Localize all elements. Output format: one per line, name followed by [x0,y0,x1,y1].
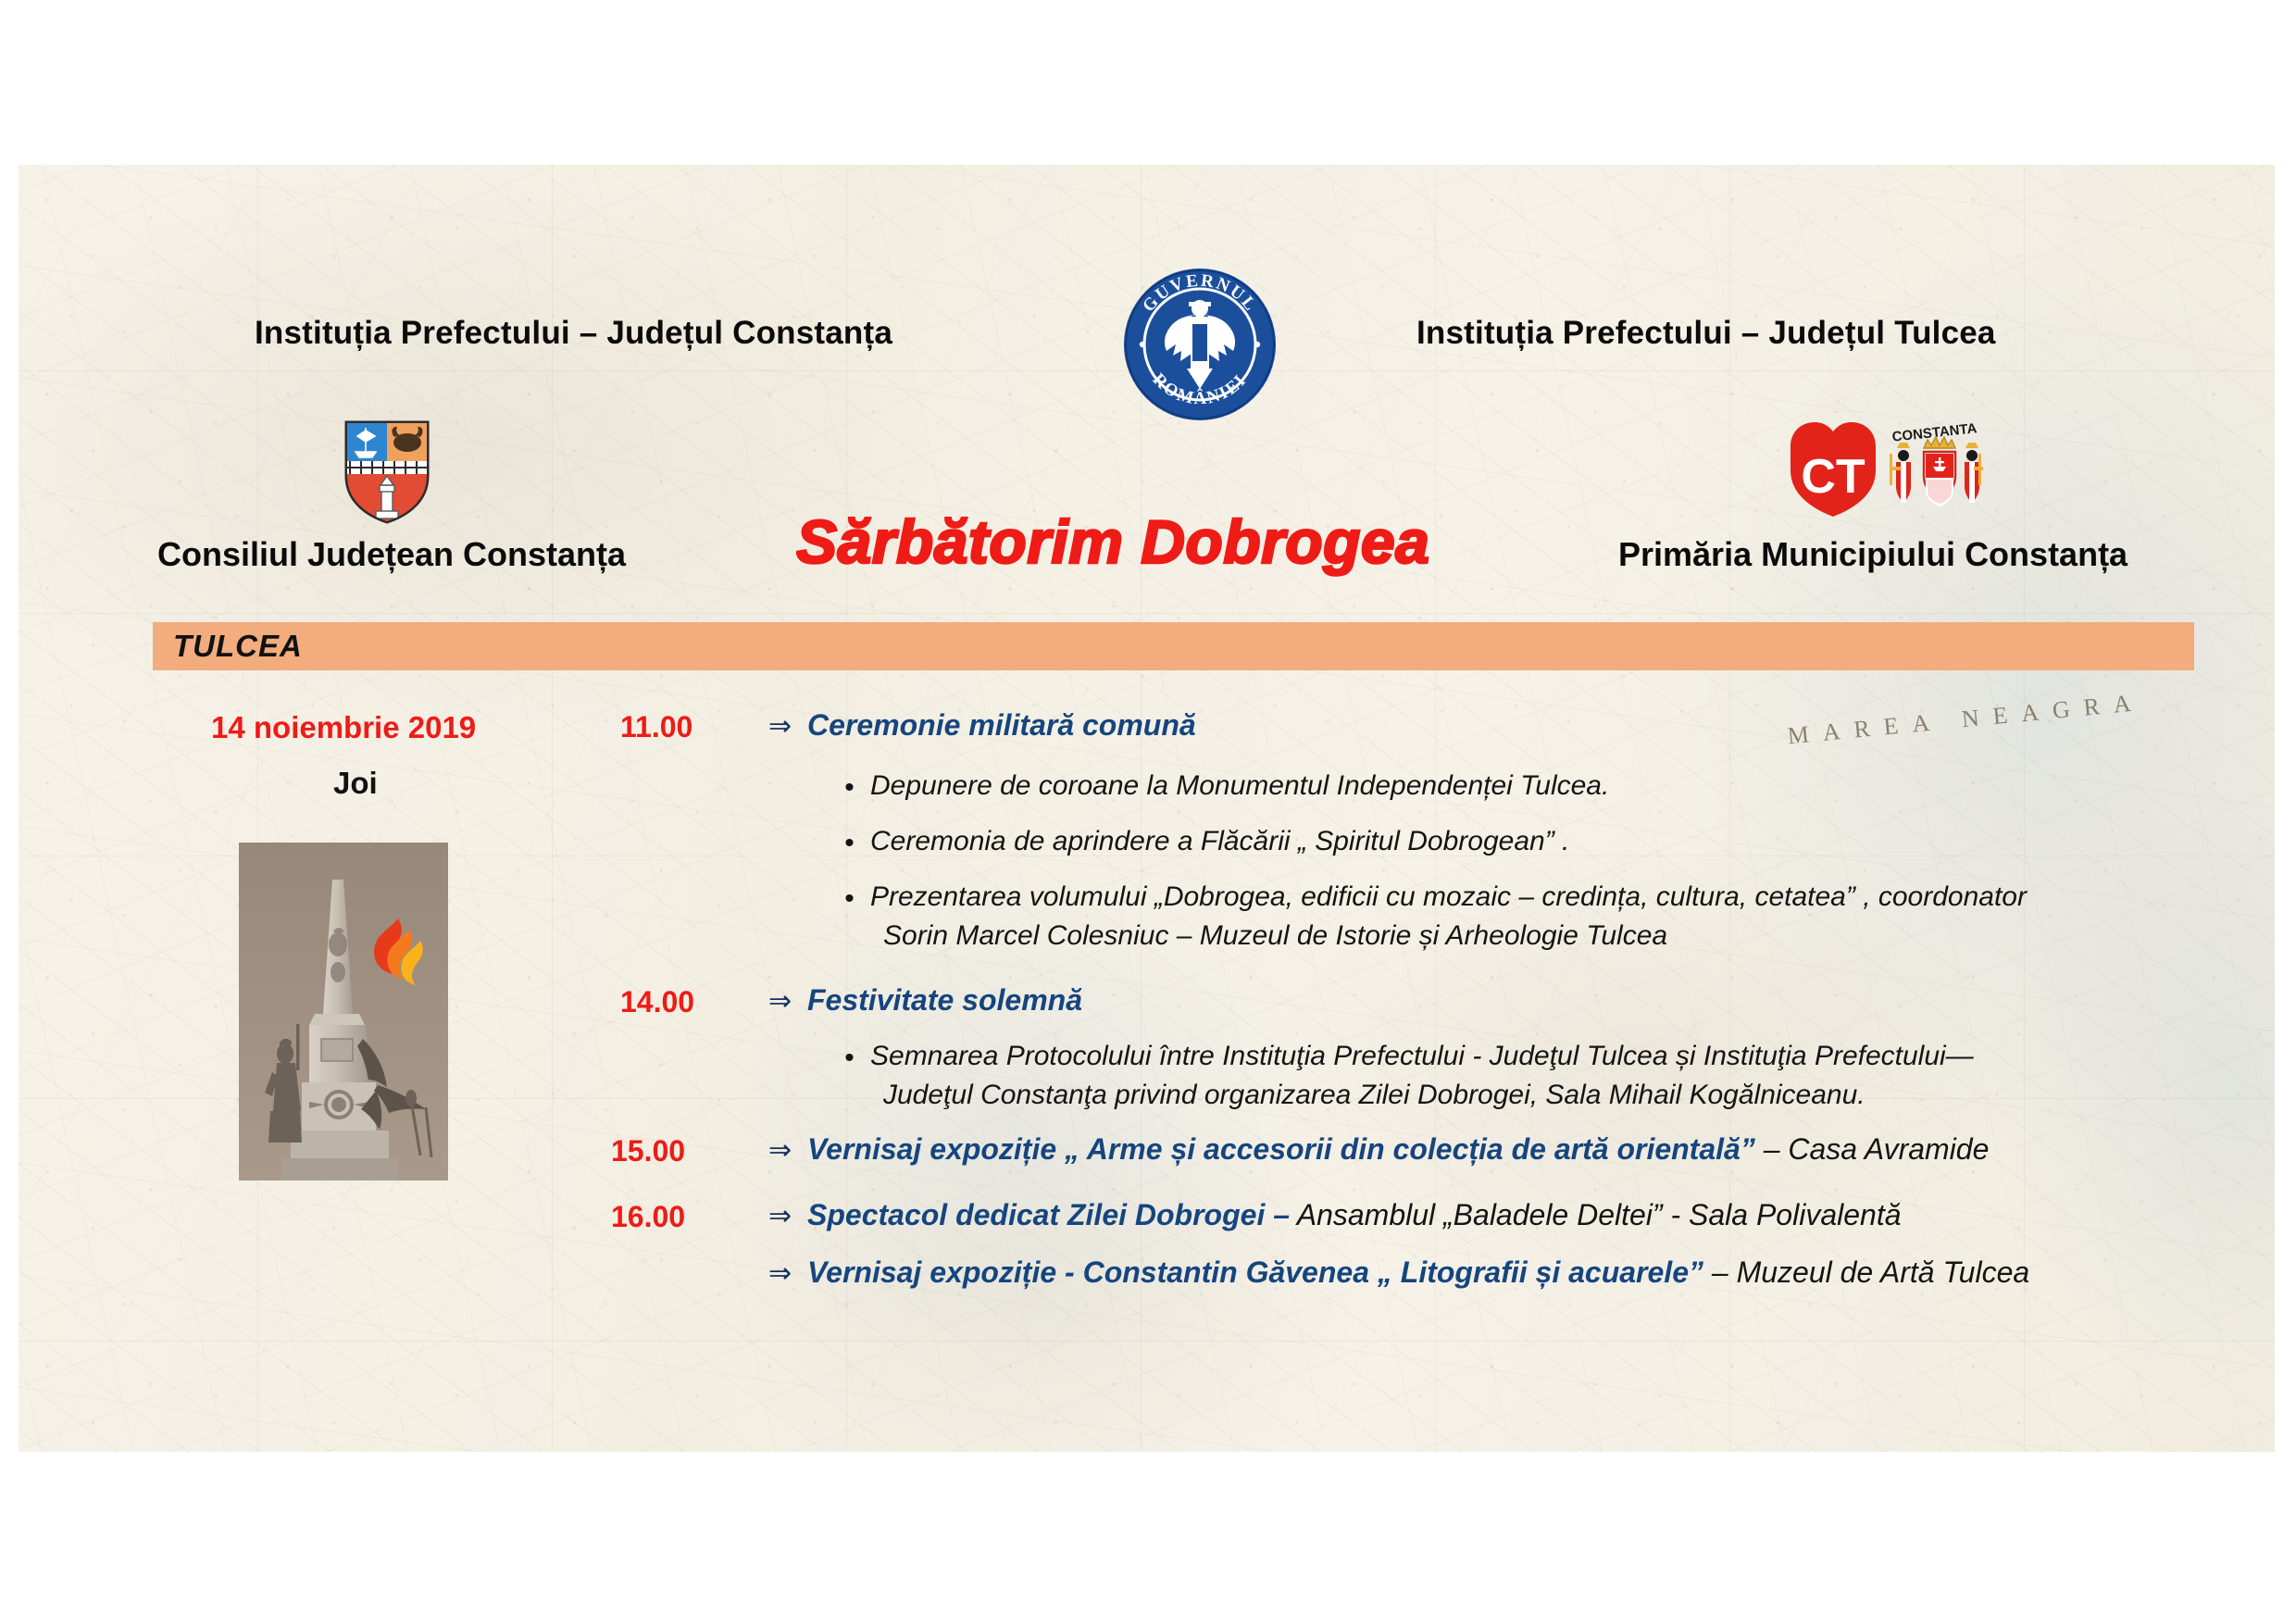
city-hall-label: Primăria Municipiului Constanța [1618,535,2128,574]
schedule-day: Joi [333,766,378,801]
schedule-bullet-line1: Prezentarea volumului „Dobrogea, edifici… [870,881,2027,912]
schedule-heading-text: Vernisaj expoziție - Constantin Găvenea … [807,1255,1703,1289]
schedule-heading-text: Ceremonie militară comună [807,708,1196,742]
svg-text:CT: CT [1801,450,1865,504]
county-council-label: Consiliul Județean Constanța [157,535,626,574]
schedule-heading: Ceremonie militară comună [807,708,1196,743]
bullet-dot-icon: • [844,828,855,859]
schedule-heading: Vernisaj expoziție - Constantin Găvenea … [807,1255,2029,1290]
schedule-heading-text: Festivitate solemnă [807,983,1082,1017]
schedule-bullet-line1: Semnarea Protocolului între Instituţia P… [870,1041,1974,1071]
independence-monument-photo [239,843,448,1181]
page-title: Sărbătorim Dobrogea [796,507,1555,586]
city-section-band: TULCEA [153,622,2194,670]
poster-canvas: MAREA NEAGRA Instituția Prefectului – Ju… [0,0,2296,1624]
schedule-bullet-line2: Judeţul Constanţa privind organizarea Zi… [883,1080,2231,1111]
schedule-heading-tail: – Muzeul de Artă Tulcea [1703,1255,2029,1289]
schedule-bullet-line1: Ceremonia de aprindere a Flăcării „ Spir… [870,826,1569,856]
schedule-date: 14 noiembrie 2019 [211,710,476,745]
schedule-heading-text: Spectacol dedicat Zilei Dobrogei – [807,1198,1290,1231]
prefecture-constanta-title: Instituția Prefectului – Județul Constan… [255,315,892,352]
schedule-heading-tail: Ansamblul „Baladele Deltei” - Sala Poliv… [1290,1198,1901,1231]
svg-text:Sărbătorim Dobrogea: Sărbătorim Dobrogea [796,507,1429,576]
schedule-heading-text: Vernisaj expoziție „ Arme și accesorii d… [807,1132,1755,1166]
bullet-dot-icon: • [844,1043,855,1074]
constanta-city-logo-icon: CT CONSTANTA [1785,418,1998,522]
schedule-time-1400: 14.00 [620,985,694,1019]
schedule-heading: Festivitate solemnă [807,983,1082,1018]
schedule-heading-tail: – Casa Avramide [1755,1132,1990,1166]
schedule-heading: Vernisaj expoziție „ Arme și accesorii d… [807,1132,1989,1167]
schedule-time-1100: 11.00 [620,710,693,744]
schedule-heading: Spectacol dedicat Zilei Dobrogei – Ansam… [807,1198,1902,1232]
arrow-marker-icon: ⇒ [768,710,792,743]
city-section-label: TULCEA [173,629,303,664]
arrow-marker-icon: ⇒ [768,1200,792,1232]
schedule-bullet: • Depunere de coroane la Monumentul Inde… [870,770,1609,802]
schedule-time-1600: 16.00 [611,1200,685,1234]
arrow-marker-icon: ⇒ [768,985,792,1018]
bullet-dot-icon: • [844,772,855,804]
constanta-county-coat-of-arms-icon [343,418,431,526]
schedule-bullet: • Ceremonia de aprindere a Flăcării „ Sp… [870,826,1569,857]
schedule-bullet-line1: Depunere de coroane la Monumentul Indepe… [870,770,1609,801]
schedule-bullet-line2: Sorin Marcel Colesniuc – Muzeul de Istor… [883,920,2185,952]
arrow-marker-icon: ⇒ [768,1257,792,1290]
prefecture-tulcea-title: Instituția Prefectului – Județul Tulcea [1416,315,1996,352]
bullet-dot-icon: • [844,883,855,915]
government-seal-icon: GUVERNUL ROMÂNIEI [1122,267,1278,422]
schedule-bullet: • Prezentarea volumului „Dobrogea, edifi… [870,881,2185,952]
arrow-marker-icon: ⇒ [768,1134,792,1167]
schedule-time-1500: 15.00 [611,1134,685,1168]
schedule-bullet: • Semnarea Protocolului între Instituţia… [870,1041,2231,1111]
